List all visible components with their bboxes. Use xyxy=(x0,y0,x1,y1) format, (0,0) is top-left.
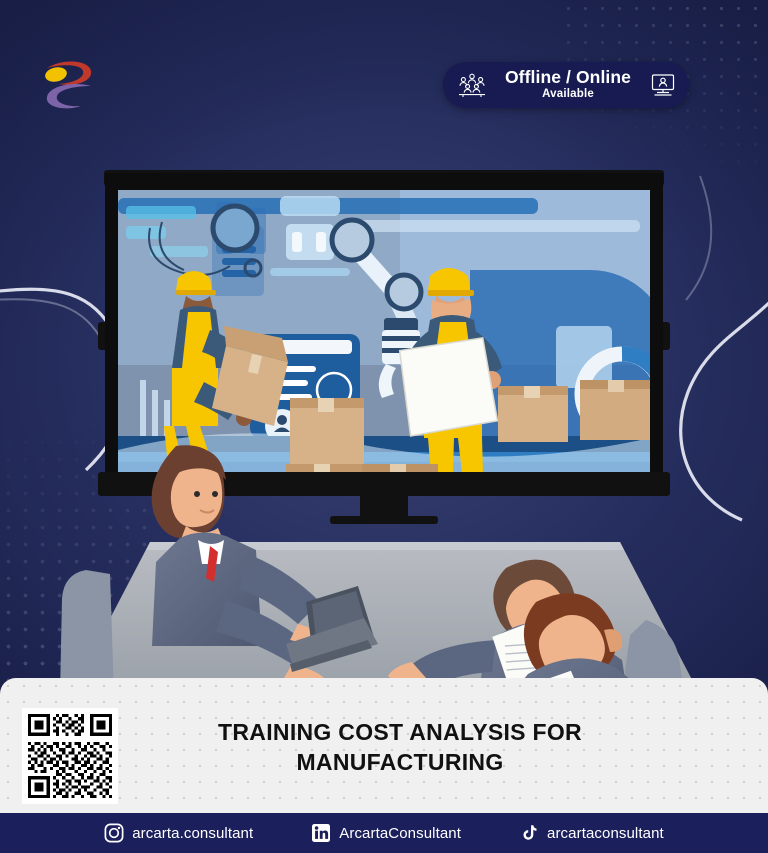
instagram-icon xyxy=(104,823,124,843)
group-meeting-icon xyxy=(457,72,487,98)
social-item-linkedin[interactable]: ArcartaConsultant xyxy=(311,823,461,843)
tiktok-icon xyxy=(519,823,539,843)
projector-stand-base xyxy=(330,516,438,524)
projector-screen-manufacturing-training xyxy=(0,150,768,695)
qr-code[interactable] xyxy=(22,708,118,804)
social-handle-linkedin: ArcartaConsultant xyxy=(339,825,461,842)
social-item-instagram[interactable]: arcarta.consultant xyxy=(104,823,253,843)
projector-stand-neck xyxy=(360,496,408,518)
linkedin-icon xyxy=(311,823,331,843)
page-title: TRAINING COST ANALYSIS FOR MANUFACTURING xyxy=(150,718,650,778)
logo-yellow-ellipse xyxy=(44,65,68,83)
social-footer: arcarta.consultant ArcartaConsultant arc… xyxy=(0,813,768,853)
social-handle-tiktok: arcartaconsultant xyxy=(547,825,664,842)
badge-title: Offline / Online xyxy=(487,68,649,86)
badge-text-block: Offline / Online Available xyxy=(487,68,649,101)
arcarta-swoosh-logo[interactable] xyxy=(33,55,103,111)
logo-purple-swoosh xyxy=(47,84,91,108)
availability-badge[interactable]: Offline / Online Available xyxy=(443,62,689,108)
desktop-monitor-person-icon xyxy=(649,72,677,98)
poster-canvas: Offline / Online Available xyxy=(0,0,768,853)
social-item-tiktok[interactable]: arcartaconsultant xyxy=(519,823,664,843)
badge-subtitle: Available xyxy=(487,87,649,102)
social-handle-instagram: arcarta.consultant xyxy=(132,825,253,842)
